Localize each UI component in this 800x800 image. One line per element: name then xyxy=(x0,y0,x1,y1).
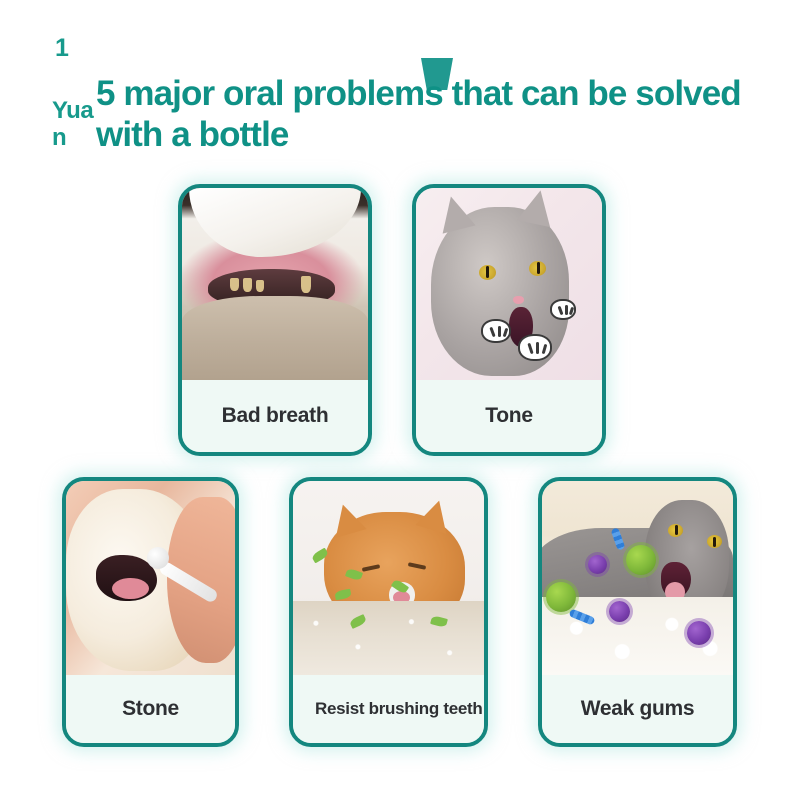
bacteria-icon xyxy=(687,621,711,645)
card-tone[interactable]: Tone xyxy=(412,184,606,456)
side-label: Yuan xyxy=(52,98,94,152)
card-resist-brushing[interactable]: Resist brushing teeth xyxy=(289,477,488,747)
card-label-tone: Tone xyxy=(416,380,602,452)
card-label-weak-gums: Weak gums xyxy=(542,675,733,743)
card-label-text: Bad breath xyxy=(222,403,329,429)
page-title: 5 major oral problems that can be solved… xyxy=(96,74,756,156)
card-label-stone: Stone xyxy=(66,675,235,743)
card-label-text: Weak gums xyxy=(581,696,695,722)
odor-puff-icon xyxy=(518,334,552,361)
bacteria-icon xyxy=(546,582,576,612)
badge-number: 1 xyxy=(55,36,68,61)
card-photo-bad-breath xyxy=(182,188,368,380)
card-photo-stone xyxy=(66,481,235,675)
bacteria-icon xyxy=(588,555,607,574)
card-label-text: Resist brushing teeth xyxy=(315,699,483,720)
card-photo-tone xyxy=(416,188,602,380)
card-label-text: Tone xyxy=(485,403,532,429)
bacteria-icon xyxy=(609,601,630,622)
card-label-text: Stone xyxy=(122,696,179,722)
odor-puff-icon xyxy=(481,319,511,343)
card-photo-resist xyxy=(293,481,484,675)
poster-canvas: 1 Yuan 5 major oral problems that can be… xyxy=(0,0,800,800)
card-weak-gums[interactable]: Weak gums xyxy=(538,477,737,747)
card-label-bad-breath: Bad breath xyxy=(182,380,368,452)
odor-puff-icon xyxy=(550,299,576,320)
card-stone[interactable]: Stone xyxy=(62,477,239,747)
card-bad-breath[interactable]: Bad breath xyxy=(178,184,372,456)
card-photo-weak-gums xyxy=(542,481,733,675)
card-label-resist: Resist brushing teeth xyxy=(293,675,484,743)
bacteria-icon xyxy=(626,545,656,575)
